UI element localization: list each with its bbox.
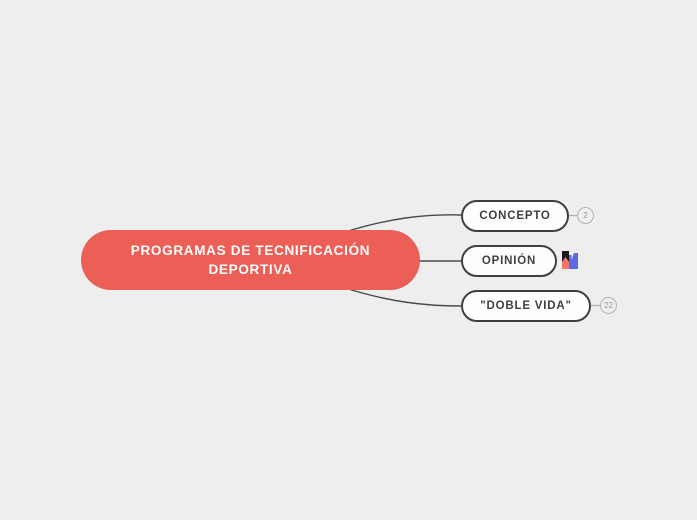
root-node-label: PROGRAMAS DE TECNIFICACIÓN DEPORTIVA xyxy=(131,241,370,279)
branch-node-doble-vida[interactable]: "DOBLE VIDA" xyxy=(461,290,591,322)
image-thumbnail-icon[interactable] xyxy=(562,251,578,269)
branch-count-badge-concepto[interactable]: 2 xyxy=(577,207,594,224)
branch-node-concepto[interactable]: CONCEPTO xyxy=(461,200,569,232)
branch-node-label: "DOBLE VIDA" xyxy=(480,300,571,312)
branch-node-opinion[interactable]: OPINIÓN xyxy=(461,245,557,277)
branch-node-label: CONCEPTO xyxy=(479,210,550,222)
connector-root-to-doble-vida xyxy=(345,288,461,306)
branch-count-badge-value: 22 xyxy=(604,302,613,310)
mindmap-canvas: PROGRAMAS DE TECNIFICACIÓN DEPORTIVA CON… xyxy=(0,0,697,520)
branch-count-badge-doble-vida[interactable]: 22 xyxy=(600,297,617,314)
root-node[interactable]: PROGRAMAS DE TECNIFICACIÓN DEPORTIVA xyxy=(81,230,420,290)
branch-count-badge-value: 2 xyxy=(583,212,587,220)
branch-node-label: OPINIÓN xyxy=(482,255,536,267)
